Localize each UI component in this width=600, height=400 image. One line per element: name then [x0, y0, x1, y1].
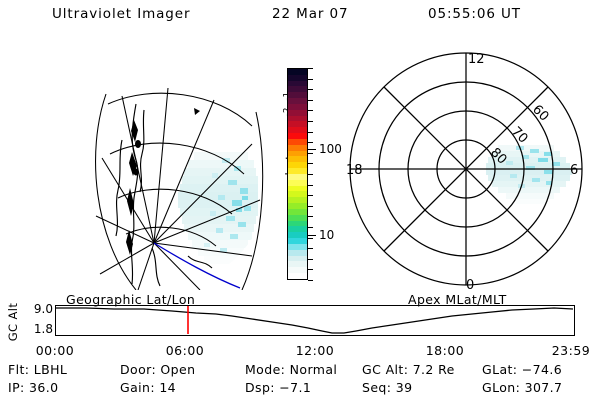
status-field: Seq: 39 [362, 380, 412, 395]
colorbar-tick [308, 163, 313, 164]
time-axis-tick: 12:00 [296, 343, 335, 358]
colorbar-ticks: 10010 [308, 68, 340, 280]
apex-mlt-panel[interactable]: 12 6 0 18 60 70 80 [340, 45, 592, 293]
mlt-label-0: 0 [466, 278, 474, 293]
colorbar-tick [308, 132, 313, 133]
colorbar-tick-label: 10 [319, 229, 334, 241]
status-field: Door: Open [120, 362, 195, 377]
mlat-label-70: 70 [508, 124, 530, 146]
status-field: GLat: −74.6 [482, 362, 562, 377]
colorbar-major-tick [308, 149, 316, 150]
observation-date: 22 Mar 07 [272, 6, 349, 22]
colorbar-tick [308, 280, 313, 281]
colorbar-tick [308, 206, 313, 207]
mlt-label-12: 12 [468, 52, 485, 67]
colorbar-tick [308, 248, 313, 249]
orbit-y-axis-label: GC Alt [6, 302, 20, 342]
status-field: Dsp: −7.1 [245, 380, 311, 395]
colorbar-tick [308, 153, 313, 154]
aurora-emission-geographic [178, 152, 258, 264]
colorbar-major-tick [308, 235, 316, 236]
orbit-altitude-panel[interactable]: GC Alt 9.0 1.8 [0, 303, 600, 343]
header-bar: Ultraviolet Imager 22 Mar 07 05:55:06 UT [0, 6, 600, 30]
colorbar-tick [308, 100, 313, 101]
colorbar-gradient [287, 68, 308, 280]
status-field: GC Alt: 7.2 Re [362, 362, 455, 377]
time-axis: 00:0006:0012:0018:0023:59 [0, 343, 600, 361]
colorbar-tick [308, 89, 313, 90]
geographic-map-svg [92, 48, 264, 290]
status-field: IP: 36.0 [8, 380, 58, 395]
time-axis-tick: 23:59 [552, 343, 591, 358]
colorbar[interactable]: photon cm-2s-1 10010 [266, 68, 340, 284]
colorbar-tick [308, 216, 313, 217]
colorbar-tick [308, 238, 313, 239]
mlt-spokes [350, 53, 582, 285]
observation-time: 05:55:06 UT [428, 6, 521, 22]
colorbar-tick-label: 100 [319, 143, 342, 155]
colorbar-tick [308, 121, 313, 122]
status-readout: Flt: LBHLDoor: OpenMode: NormalGC Alt: 7… [0, 362, 600, 400]
colorbar-segment [288, 273, 307, 279]
colorbar-tick [308, 110, 313, 111]
orbit-plot-box[interactable] [55, 305, 575, 336]
colorbar-tick [308, 79, 313, 80]
colorbar-tick [308, 174, 313, 175]
time-axis-tick: 00:00 [36, 343, 75, 358]
orbit-ytick-low: 1.8 [34, 323, 53, 335]
colorbar-tick [308, 269, 313, 270]
colorbar-tick [308, 142, 313, 143]
orbit-y-ticks: 9.0 1.8 [19, 303, 53, 337]
colorbar-tick [308, 259, 313, 260]
status-field: Flt: LBHL [8, 362, 67, 377]
status-field: Mode: Normal [245, 362, 337, 377]
mlat-label-60: 60 [529, 102, 551, 124]
apex-mlt-svg: 12 6 0 18 60 70 80 [340, 45, 592, 293]
orbit-ytick-high: 9.0 [34, 303, 53, 315]
orbit-altitude-svg [56, 306, 573, 334]
status-field: GLon: 307.7 [482, 380, 562, 395]
geographic-map-panel[interactable] [92, 48, 264, 290]
time-axis-tick: 18:00 [426, 343, 465, 358]
colorbar-tick [308, 68, 313, 69]
colorbar-tick [308, 227, 313, 228]
colorbar-tick [308, 185, 313, 186]
mlt-label-18: 18 [346, 163, 363, 178]
instrument-title: Ultraviolet Imager [52, 6, 190, 22]
status-field: Gain: 14 [120, 380, 176, 395]
time-axis-tick: 06:00 [166, 343, 205, 358]
colorbar-tick [308, 195, 313, 196]
mlt-label-6: 6 [570, 163, 578, 178]
